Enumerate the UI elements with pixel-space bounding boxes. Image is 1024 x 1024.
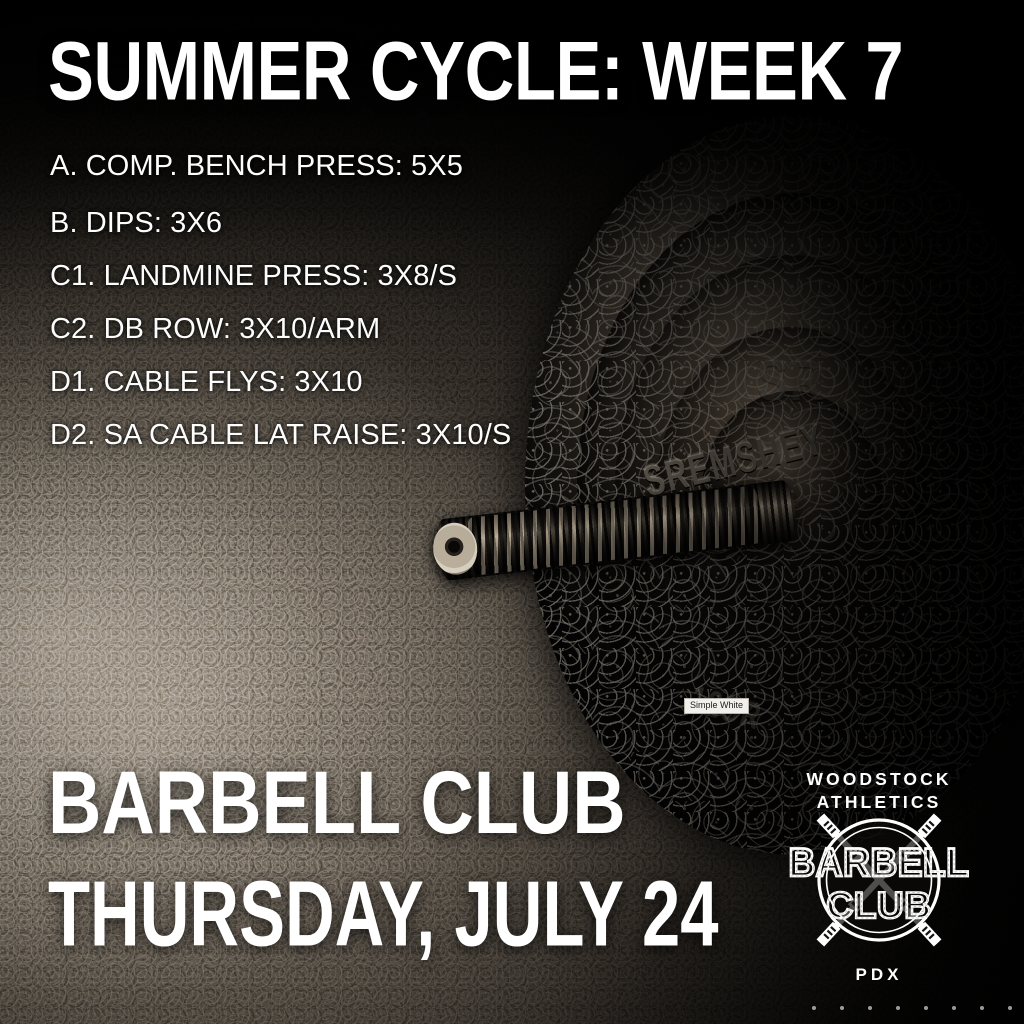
poster-canvas: SR SREMSHEY 12SR Simple White SUMMER CYC… bbox=[0, 0, 1024, 1024]
logo-circle-line-2-inline: CLUB bbox=[826, 885, 931, 926]
dot bbox=[952, 1006, 956, 1010]
logo-top-line-2: ATHLETICS bbox=[817, 792, 942, 812]
list-item: C2. DB ROW: 3X10/ARM bbox=[50, 315, 870, 344]
workout-list: A. COMP. BENCH PRESS: 5X5 B. DIPS: 3X6 C… bbox=[50, 152, 870, 450]
dot bbox=[868, 1006, 872, 1010]
dot bbox=[896, 1006, 900, 1010]
dot bbox=[812, 1006, 816, 1010]
dot bbox=[924, 1006, 928, 1010]
woodstock-athletics-logo: WOODSTOCK ATHLETICS BARBELL BARBELL CLUB… bbox=[748, 752, 1010, 1002]
logo-bottom-line: PDX bbox=[856, 965, 903, 984]
bottom-dot-row bbox=[812, 1006, 1012, 1012]
list-item: C1. LANDMINE PRESS: 3X8/S bbox=[50, 262, 870, 291]
footer-date: THURSDAY, JULY 24 bbox=[48, 872, 718, 957]
color-chip-label: Simple White bbox=[684, 698, 749, 714]
list-item: B. DIPS: 3X6 bbox=[50, 209, 870, 238]
logo-top-line-1: WOODSTOCK bbox=[806, 769, 951, 789]
page-title: SUMMER CYCLE: WEEK 7 bbox=[48, 32, 903, 110]
logo-circle-wordmark: BARBELL BARBELL CLUB CLUB bbox=[789, 841, 970, 926]
dot bbox=[1008, 1006, 1012, 1010]
list-item: D2. SA CABLE LAT RAISE: 3X10/S bbox=[50, 421, 870, 450]
footer-club-name: BARBELL CLUB bbox=[48, 762, 626, 844]
logo-circle-line-1-inline: BARBELL bbox=[789, 843, 970, 884]
dot bbox=[840, 1006, 844, 1010]
list-item: D1. CABLE FLYS: 3X10 bbox=[50, 368, 870, 397]
dot bbox=[980, 1006, 984, 1010]
logo-artwork: WOODSTOCK ATHLETICS BARBELL BARBELL CLUB… bbox=[748, 752, 1010, 1002]
list-item: A. COMP. BENCH PRESS: 5X5 bbox=[50, 152, 870, 181]
